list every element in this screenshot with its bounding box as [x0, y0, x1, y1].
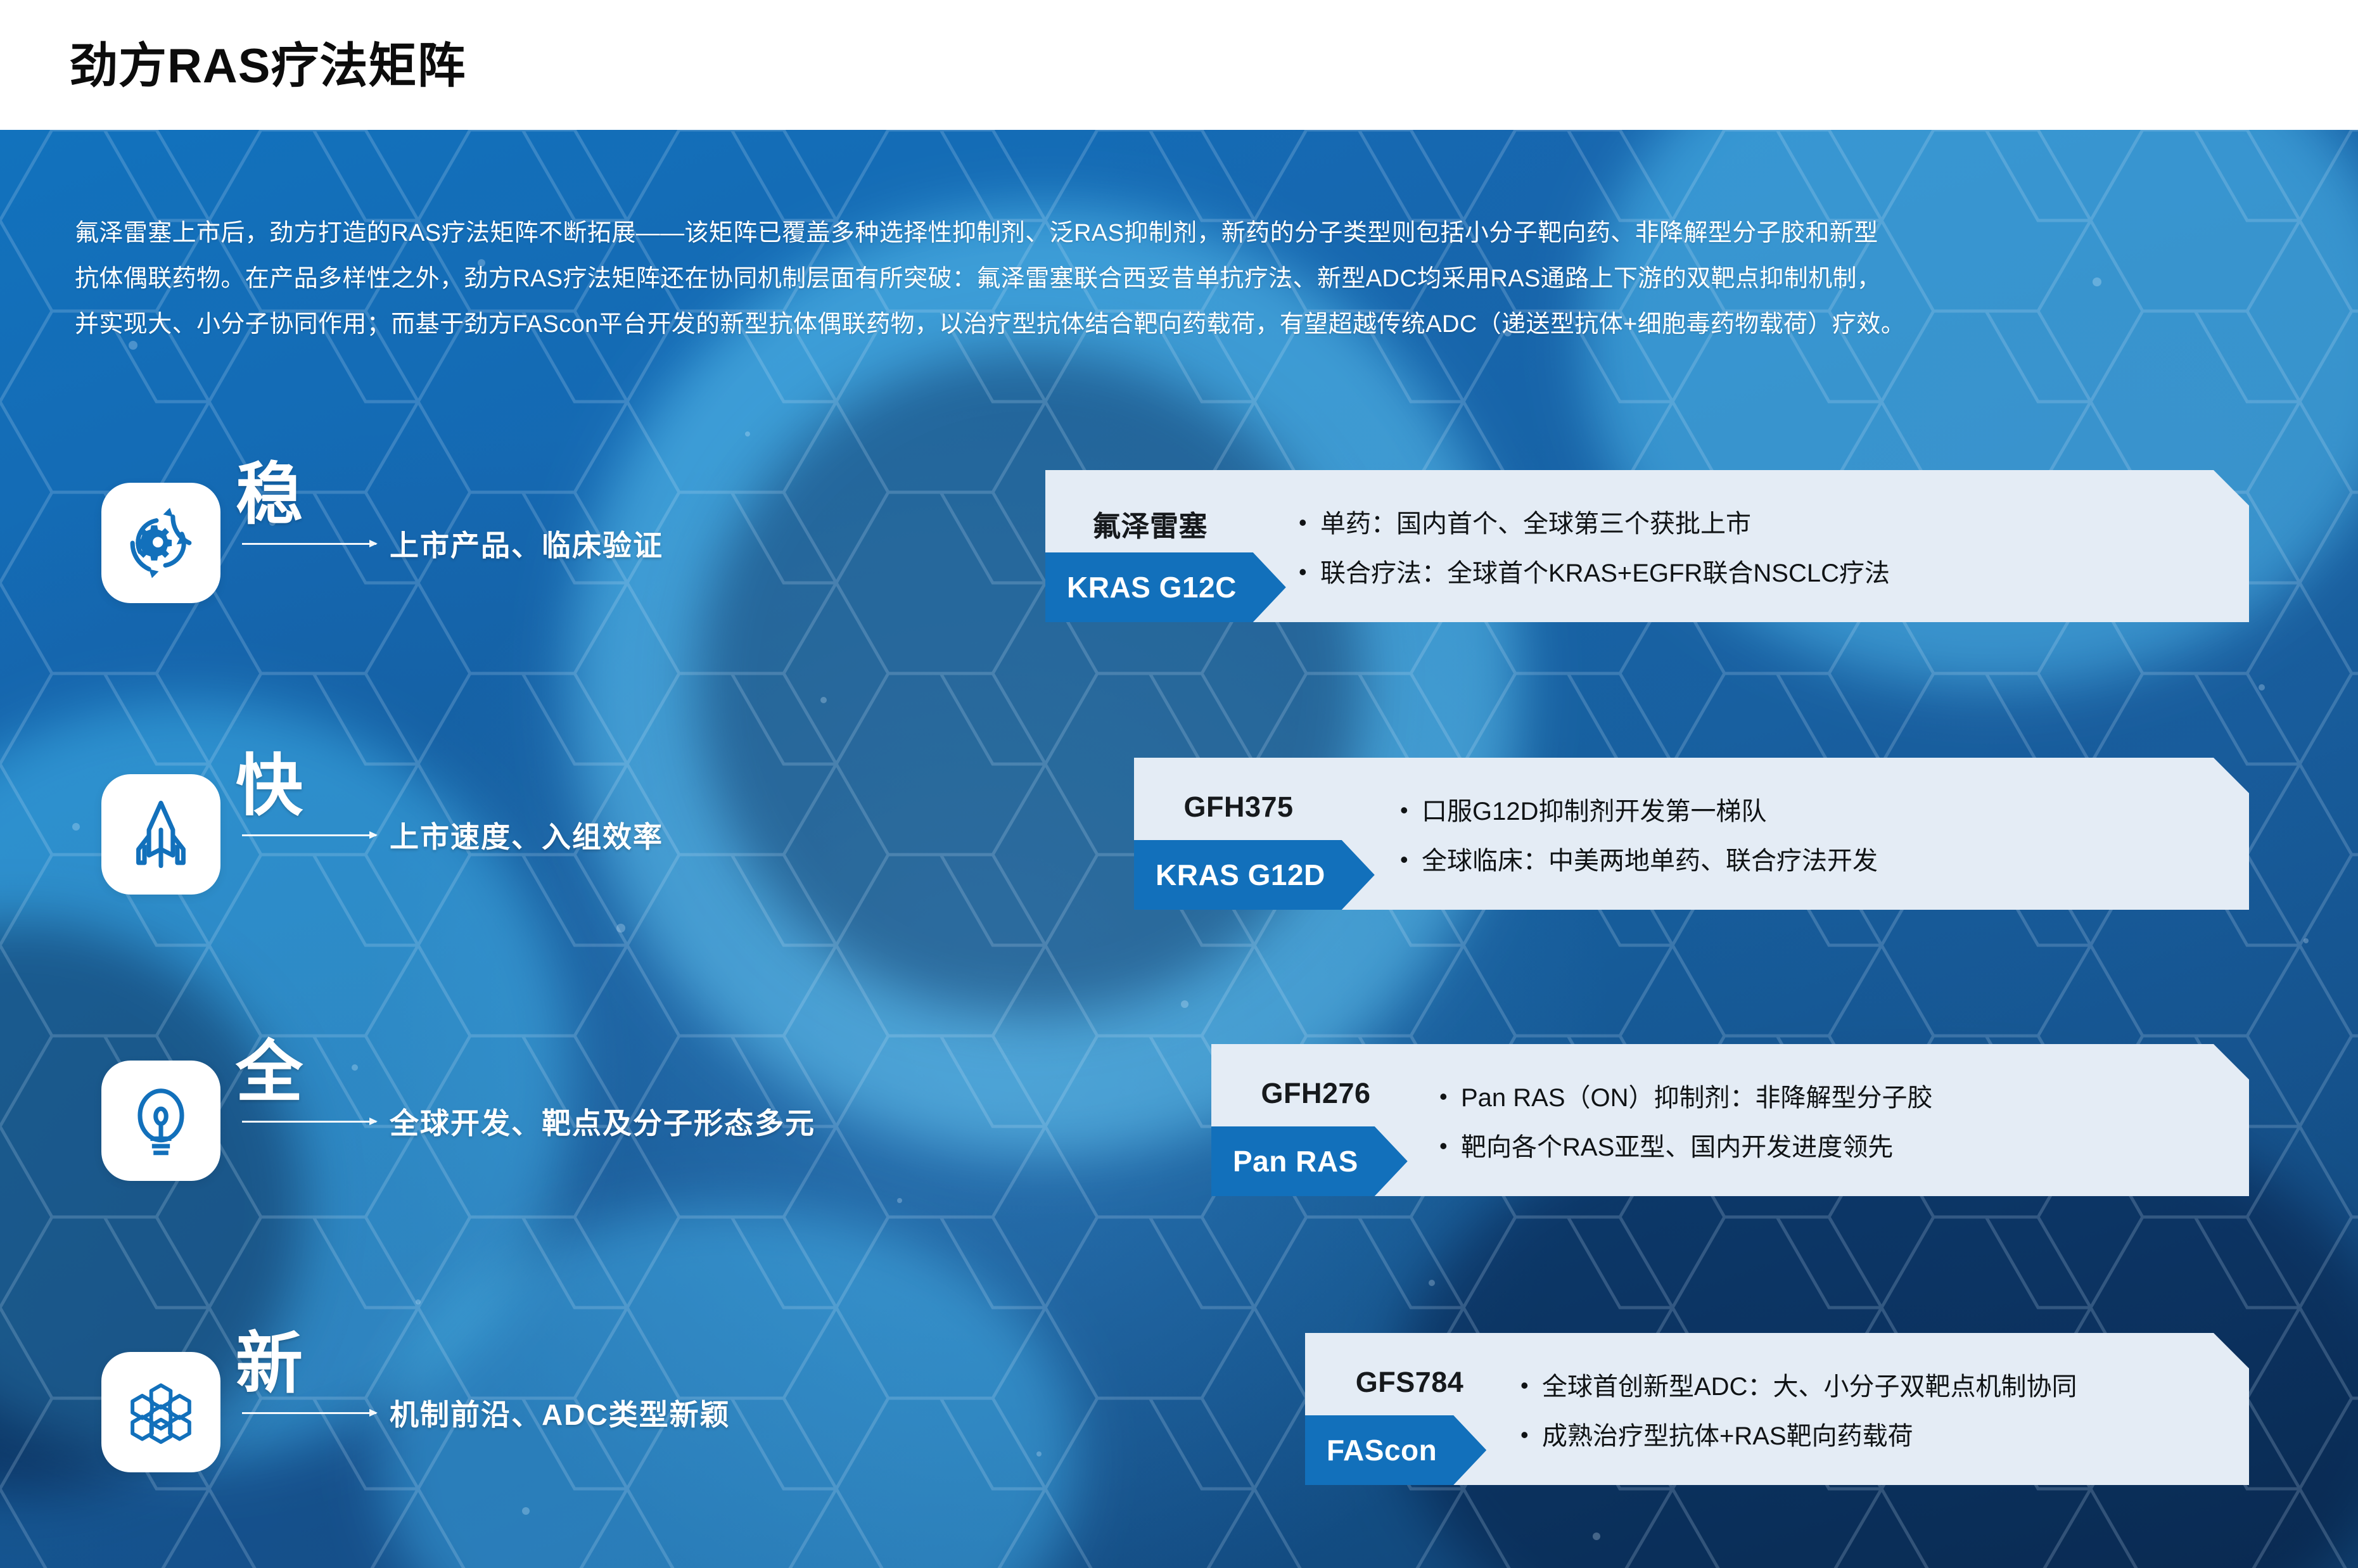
pillar-row-xin: 新 机制前沿、ADC类型新颖: [101, 1338, 1052, 1484]
intro-paragraph: 氟泽雷塞上市后，劲方打造的RAS疗法矩阵不断拓展——该矩阵已覆盖多种选择性抑制剂…: [75, 210, 2292, 347]
card-bullet: 成熟治疗型抗体+RAS靶向药载荷: [1520, 1412, 2077, 1461]
card-bullet: Pan RAS（ON）抑制剂：非降解型分子胶: [1439, 1073, 1933, 1123]
pillar-row-kuai: 快 上市速度、入组效率: [101, 760, 1052, 906]
intro-line: 抗体偶联药物。在产品多样性之外，劲方RAS疗法矩阵还在协同机制层面有所突破：氟泽…: [75, 256, 2292, 302]
pipeline-card[interactable]: 氟泽雷塞 KRAS G12C 单药：国内首个、全球第三个获批上市 联合疗法：全球…: [1045, 470, 2249, 622]
infographic-page: 劲方RAS疗法矩阵: [0, 0, 2358, 1568]
card-target-label: KRAS G12D: [1156, 858, 1325, 892]
card-target-tag: FAScon: [1305, 1415, 1486, 1485]
pillar-icon-box: [101, 774, 220, 895]
card-drug-name: GFS784: [1305, 1366, 1514, 1399]
card-bullet-list: Pan RAS（ON）抑制剂：非降解型分子胶 靶向各个RAS亚型、国内开发进度领…: [1439, 1073, 1933, 1172]
card-bullet: 单药：国内首个、全球第三个获批上市: [1299, 499, 1890, 549]
card-drug-name: GFH375: [1134, 791, 1343, 824]
pillar-label: 全球开发、靶点及分子形态多元: [390, 1100, 815, 1142]
card-left-block: GFH276 Pan RAS: [1211, 1044, 1420, 1196]
pipeline-card[interactable]: GFH375 KRAS G12D 口服G12D抑制剂开发第一梯队 全球临床：中美…: [1134, 758, 2249, 910]
card-target-label: Pan RAS: [1233, 1144, 1358, 1178]
pillar-label: 上市产品、临床验证: [390, 523, 663, 564]
card-bullet: 全球临床：中美两地单药、联合疗法开发: [1400, 836, 1878, 886]
intro-line: 并实现大、小分子协同作用；而基于劲方FAScon平台开发的新型抗体偶联药物，以治…: [75, 302, 2292, 347]
card-left-block: 氟泽雷塞 KRAS G12C: [1045, 470, 1254, 622]
card-bullet-list: 口服G12D抑制剂开发第一梯队 全球临床：中美两地单药、联合疗法开发: [1400, 787, 1878, 886]
card-left-block: GFS784 FAScon: [1305, 1333, 1514, 1485]
pillar-row-wen: 稳 上市产品、临床验证: [101, 469, 1052, 615]
molecule-hex-icon: [124, 1375, 198, 1450]
card-bullet-list: 全球首创新型ADC：大、小分子双靶点机制协同 成熟治疗型抗体+RAS靶向药载荷: [1520, 1362, 2077, 1461]
pillar-character: 快: [236, 753, 303, 820]
pipeline-card[interactable]: GFS784 FAScon 全球首创新型ADC：大、小分子双靶点机制协同 成熟治…: [1305, 1333, 2249, 1485]
card-drug-name: 氟泽雷塞: [1045, 503, 1254, 544]
card-bullet: 全球首创新型ADC：大、小分子双靶点机制协同: [1520, 1362, 2077, 1412]
pillar-connector-line: [242, 1121, 376, 1123]
card-target-tag: Pan RAS: [1211, 1126, 1408, 1196]
pillar-label: 机制前沿、ADC类型新颖: [390, 1392, 730, 1434]
header-band: 劲方RAS疗法矩阵: [0, 0, 2358, 130]
pillar-character: 新: [236, 1330, 303, 1398]
page-title: 劲方RAS疗法矩阵: [70, 27, 466, 96]
pillar-label: 上市速度、入组效率: [390, 814, 663, 856]
card-left-block: GFH375 KRAS G12D: [1134, 758, 1343, 910]
pillar-connector-line: [242, 543, 376, 545]
card-bullet: 口服G12D抑制剂开发第一梯队: [1400, 787, 1878, 836]
card-target-tag: KRAS G12D: [1134, 840, 1375, 910]
card-target-label: FAScon: [1327, 1433, 1437, 1467]
card-target-tag: KRAS G12C: [1045, 552, 1286, 622]
intro-line: 氟泽雷塞上市后，劲方打造的RAS疗法矩阵不断拓展——该矩阵已覆盖多种选择性抑制剂…: [75, 210, 2292, 256]
pipeline-card[interactable]: GFH276 Pan RAS Pan RAS（ON）抑制剂：非降解型分子胶 靶向…: [1211, 1044, 2249, 1196]
card-bullet: 联合疗法：全球首个KRAS+EGFR联合NSCLC疗法: [1299, 549, 1890, 598]
pillar-connector-line: [242, 1412, 376, 1414]
gear-refresh-icon: [124, 506, 198, 580]
pillar-icon-box: [101, 1352, 220, 1472]
card-drug-name: GFH276: [1211, 1077, 1420, 1110]
pillar-row-quan: 全 全球开发、靶点及分子形态多元: [101, 1047, 1052, 1192]
card-bullet: 靶向各个RAS亚型、国内开发进度领先: [1439, 1123, 1933, 1172]
rocket-icon: [124, 797, 198, 872]
card-bullet-list: 单药：国内首个、全球第三个获批上市 联合疗法：全球首个KRAS+EGFR联合NS…: [1299, 499, 1890, 598]
pillar-icon-box: [101, 1061, 220, 1181]
pillar-character: 全: [236, 1039, 303, 1106]
pillar-connector-line: [242, 834, 376, 836]
lightbulb-icon: [124, 1083, 198, 1158]
pillar-icon-box: [101, 483, 220, 603]
card-target-label: KRAS G12C: [1067, 570, 1237, 604]
pillar-character: 稳: [236, 461, 303, 528]
